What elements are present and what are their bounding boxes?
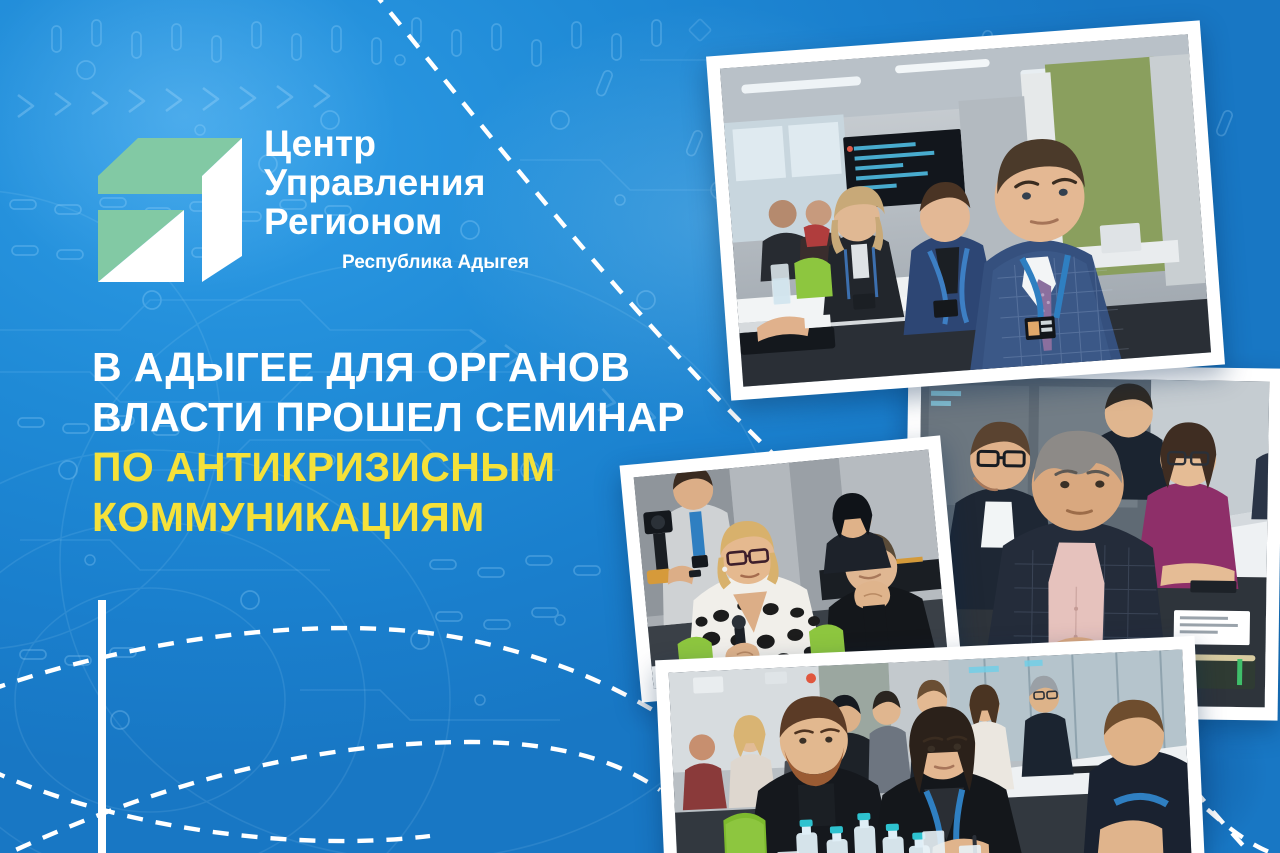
logo-line-2: Управления bbox=[264, 163, 564, 202]
photo-bottom-image bbox=[669, 649, 1192, 853]
logo-wordmark: Центр Управления Регионом Республика Ады… bbox=[264, 124, 564, 274]
cur-cube-logo-icon bbox=[96, 132, 244, 284]
photo-top-image bbox=[720, 34, 1211, 386]
photo-audience-seminar-hall bbox=[655, 636, 1205, 853]
logo-line-1: Центр bbox=[264, 124, 564, 163]
photo-officials-seated-front-row bbox=[706, 20, 1225, 400]
logo-subtitle: Республика Адыгея bbox=[342, 252, 564, 274]
white-accent-bar bbox=[98, 600, 106, 853]
logo: Центр Управления Регионом Республика Ады… bbox=[96, 128, 516, 288]
headline-line-2: ВЛАСТИ ПРОШЕЛ СЕМИНАР bbox=[92, 392, 732, 442]
logo-line-3: Регионом bbox=[264, 202, 564, 241]
poster-canvas: Центр Управления Регионом Республика Ады… bbox=[0, 0, 1280, 853]
headline-line-1: В АДЫГЕЕ ДЛЯ ОРГАНОВ bbox=[92, 342, 732, 392]
